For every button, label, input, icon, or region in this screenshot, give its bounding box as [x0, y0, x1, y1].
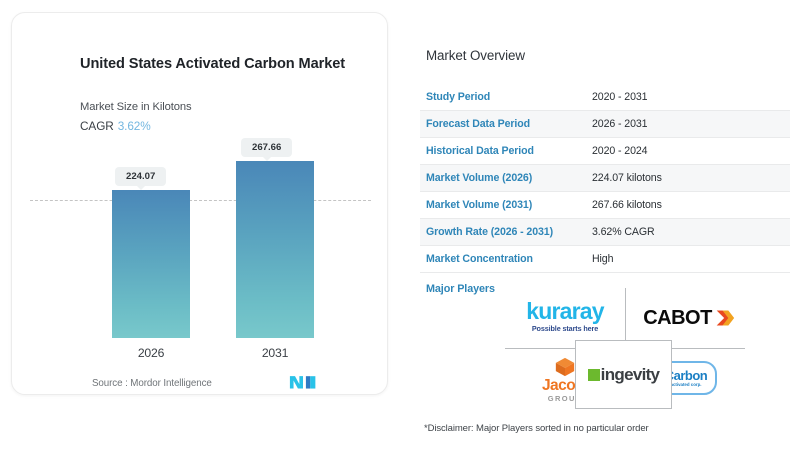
bar-2031[interactable]	[236, 161, 314, 338]
bar-value-label-2026: 224.07	[115, 167, 166, 186]
row-key: Forecast Data Period	[420, 118, 592, 130]
chart-subtitle: Market Size in Kilotons	[80, 101, 192, 113]
kuraray-tagline: Possible starts here	[526, 324, 604, 333]
row-key: Market Volume (2031)	[420, 199, 592, 211]
row-key: Market Volume (2026)	[420, 172, 592, 184]
infographic-root: United States Activated Carbon Market Ma…	[0, 0, 800, 459]
row-key: Market Concentration	[420, 253, 592, 265]
cagr-line: CAGR3.62%	[80, 119, 151, 133]
market-overview-table: Study Period 2020 - 2031 Forecast Data P…	[420, 84, 790, 273]
cagr-value: 3.62%	[118, 119, 151, 133]
row-key: Study Period	[420, 91, 592, 103]
market-overview-title: Market Overview	[426, 48, 525, 63]
chart-card: United States Activated Carbon Market Ma…	[11, 12, 388, 395]
row-value: 267.66 kilotons	[592, 199, 662, 211]
table-row: Market Volume (2031) 267.66 kilotons	[420, 192, 790, 219]
player-logo-ingevity: ingevity	[575, 340, 672, 409]
table-row: Historical Data Period 2020 - 2024	[420, 138, 790, 165]
table-row: Market Volume (2026) 224.07 kilotons	[420, 165, 790, 192]
x-axis-label-2026: 2026	[112, 346, 190, 360]
table-row: Market Concentration High	[420, 246, 790, 273]
x-axis-label-2031: 2031	[236, 346, 314, 360]
kuraray-wordmark: kuraray	[526, 299, 604, 323]
row-value: 3.62% CAGR	[592, 226, 655, 238]
row-value: 2020 - 2031	[592, 91, 647, 103]
row-key: Historical Data Period	[420, 145, 592, 157]
row-value: 2026 - 2031	[592, 118, 647, 130]
mordor-intelligence-logo	[288, 374, 318, 390]
row-key: Growth Rate (2026 - 2031)	[420, 226, 592, 238]
reference-dashed-line	[30, 200, 371, 201]
cabot-wordmark: CABOT	[643, 307, 712, 330]
cabot-chevron-icon	[715, 308, 735, 328]
player-logo-cabot: CABOT	[625, 288, 745, 348]
major-players-label: Major Players	[426, 283, 495, 295]
disclaimer-text: *Disclaimer: Major Players sorted in no …	[424, 423, 649, 434]
row-value: High	[592, 253, 613, 265]
row-value: 2020 - 2024	[592, 145, 647, 157]
row-value: 224.07 kilotons	[592, 172, 662, 184]
bar-value-label-2031: 267.66	[241, 138, 292, 157]
cagr-label: CAGR	[80, 119, 114, 133]
bar-chart-plot: 224.07 267.66 2026 2031	[12, 143, 389, 358]
ingevity-square-icon	[588, 369, 600, 381]
table-row: Forecast Data Period 2026 - 2031	[420, 111, 790, 138]
source-text: Source : Mordor Intelligence	[92, 378, 212, 389]
bar-2026[interactable]	[112, 190, 190, 338]
chart-title: United States Activated Carbon Market	[80, 55, 350, 74]
jacobi-cube-icon	[555, 357, 575, 377]
table-row: Study Period 2020 - 2031	[420, 84, 790, 111]
player-logo-kuraray: kuraray Possible starts here	[505, 288, 625, 348]
ingevity-wordmark: ingevity	[601, 366, 660, 384]
table-row: Growth Rate (2026 - 2031) 3.62% CAGR	[420, 219, 790, 246]
